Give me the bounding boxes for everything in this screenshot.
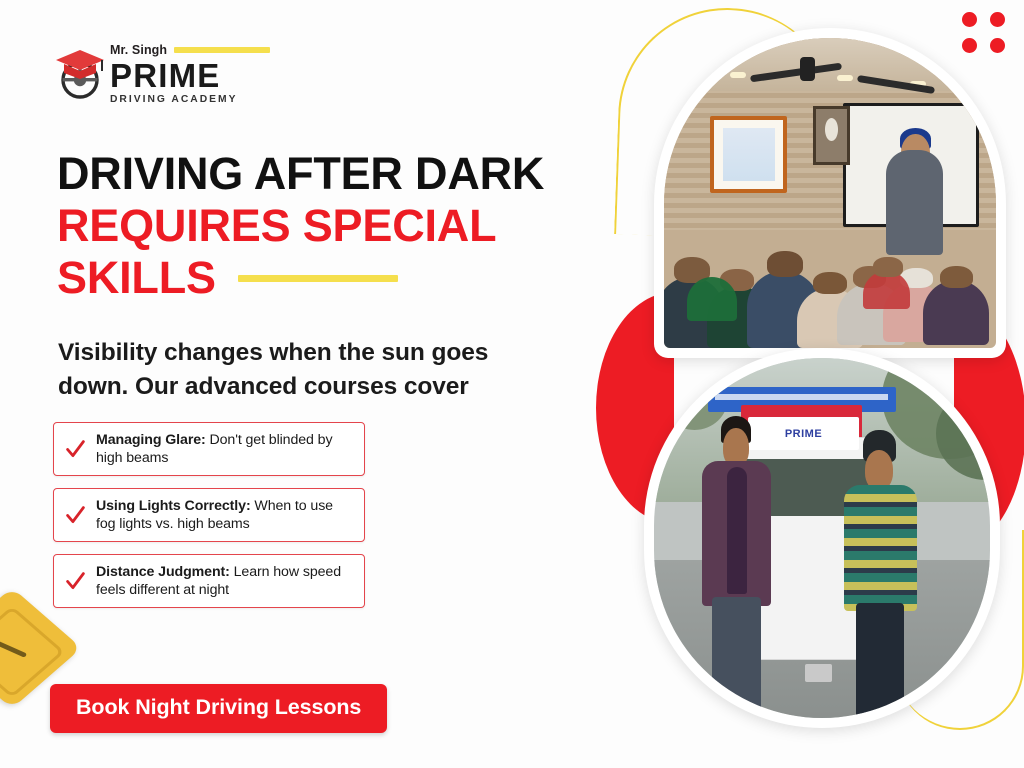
brand-logo: Mr. Singh PRIME DRIVING ACADEMY [52,42,267,110]
check-mark-icon [65,439,86,460]
feature-item[interactable]: Using Lights Correctly: When to use fog … [53,488,365,542]
logo-tagline: DRIVING ACADEMY [110,94,270,105]
feature-title: Distance Judgment: [96,564,230,580]
subheading: Visibility changes when the sun goes dow… [58,336,558,404]
classroom-training-photo [654,28,1006,358]
photo-collage: PRIME [596,0,1024,768]
feature-item[interactable]: Managing Glare: Don't get blinded by hig… [53,422,365,476]
feature-item[interactable]: Distance Judgment: Learn how speed feels… [53,554,365,608]
check-mark-icon [65,505,86,526]
logo-yellow-bar [174,47,270,53]
poster-canvas: Mr. Singh PRIME DRIVING ACADEMY DRIVING … [0,0,1024,768]
book-night-driving-lessons-button[interactable]: Book Night Driving Lessons [50,684,387,733]
check-mark-icon [65,571,86,592]
logo-name: PRIME [110,59,270,93]
students-with-training-car-photo: PRIME [644,348,1000,728]
headline-line-1: DRIVING AFTER DARK [57,148,617,200]
headline: DRIVING AFTER DARK REQUIRES SPECIAL SKIL… [57,148,617,304]
logo-prefix: Mr. Singh [110,43,167,57]
feature-title: Using Lights Correctly: [96,498,251,514]
headline-line-2: REQUIRES SPECIAL [57,200,617,252]
headline-line-3: SKILLS [57,252,216,304]
feature-list: Managing Glare: Don't get blinded by hig… [53,422,365,608]
graduation-cap-steering-wheel-icon [52,46,108,102]
road-sign-glyph [0,638,27,658]
headline-yellow-rule [238,275,398,282]
feature-title: Managing Glare: [96,432,206,448]
